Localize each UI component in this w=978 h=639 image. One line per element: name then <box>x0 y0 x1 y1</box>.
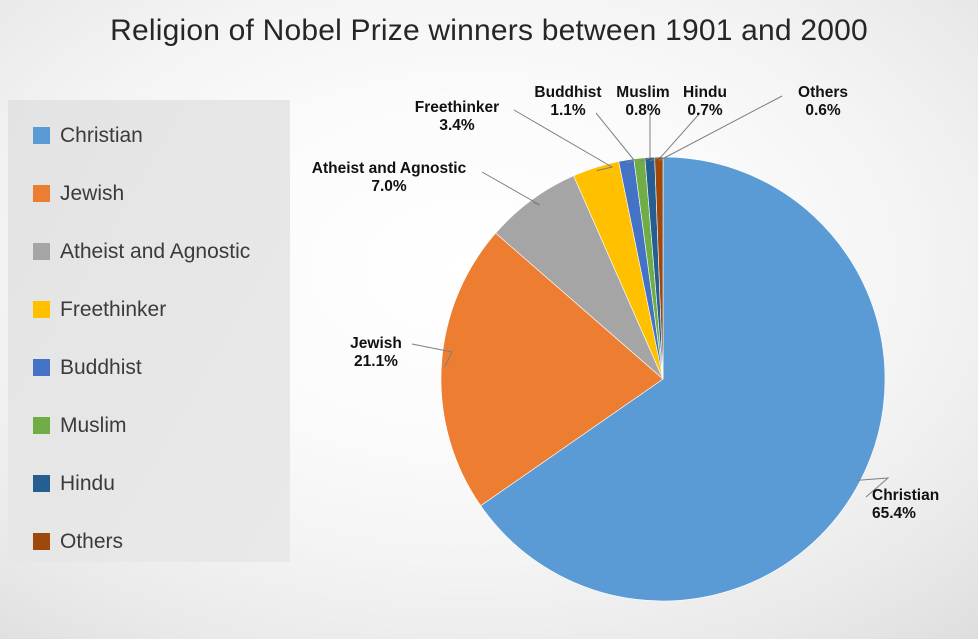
data-label-buddhist-name: Buddhist <box>524 84 612 102</box>
data-label-christian: Christian 65.4% <box>872 487 939 524</box>
pie-chart-figure: Religion of Nobel Prize winners between … <box>0 0 978 639</box>
legend-item-freethinker[interactable]: Freethinker <box>8 280 290 338</box>
legend-swatch-icon <box>33 417 50 434</box>
data-label-others-name: Others <box>780 84 866 102</box>
data-label-hindu: Hindu 0.7% <box>668 84 742 121</box>
legend-swatch-icon <box>33 533 50 550</box>
data-label-christian-value: 65.4% <box>872 505 939 523</box>
data-label-christian-name: Christian <box>872 487 939 505</box>
legend-item-label: Freethinker <box>60 299 166 320</box>
chart-legend: ChristianJewishAtheist and AgnosticFreet… <box>8 100 290 562</box>
data-label-atheist-and-agnostic: Atheist and Agnostic 7.0% <box>299 160 479 197</box>
legend-item-label: Atheist and Agnostic <box>60 241 250 262</box>
data-label-jewish-name: Jewish <box>340 335 412 353</box>
data-label-freethinker-value: 3.4% <box>404 117 510 135</box>
legend-item-muslim[interactable]: Muslim <box>8 396 290 454</box>
leader-line-atheist-and-agnostic <box>482 172 540 205</box>
legend-item-label: Buddhist <box>60 357 142 378</box>
data-label-others-value: 0.6% <box>780 102 866 120</box>
legend-item-label: Muslim <box>60 415 127 436</box>
data-label-atheist-value: 7.0% <box>299 178 479 196</box>
legend-item-hindu[interactable]: Hindu <box>8 454 290 512</box>
data-label-buddhist-value: 1.1% <box>524 102 612 120</box>
legend-item-jewish[interactable]: Jewish <box>8 164 290 222</box>
data-label-jewish: Jewish 21.1% <box>340 335 412 372</box>
data-label-buddhist: Buddhist 1.1% <box>524 84 612 121</box>
data-label-freethinker-name: Freethinker <box>404 99 510 117</box>
data-label-others: Others 0.6% <box>780 84 866 121</box>
data-label-jewish-value: 21.1% <box>340 353 412 371</box>
legend-item-others[interactable]: Others <box>8 512 290 570</box>
legend-swatch-icon <box>33 185 50 202</box>
legend-item-christian[interactable]: Christian <box>8 106 290 164</box>
legend-item-atheist-and-agnostic[interactable]: Atheist and Agnostic <box>8 222 290 280</box>
legend-item-label: Hindu <box>60 473 115 494</box>
legend-swatch-icon <box>33 301 50 318</box>
legend-swatch-icon <box>33 359 50 376</box>
legend-item-label: Others <box>60 531 123 552</box>
legend-item-label: Christian <box>60 125 143 146</box>
legend-swatch-icon <box>33 127 50 144</box>
pie-slice-group <box>441 157 885 601</box>
data-label-atheist-name: Atheist and Agnostic <box>299 160 479 178</box>
data-label-hindu-value: 0.7% <box>668 102 742 120</box>
legend-swatch-icon <box>33 475 50 492</box>
legend-item-buddhist[interactable]: Buddhist <box>8 338 290 396</box>
data-label-freethinker: Freethinker 3.4% <box>404 99 510 136</box>
legend-item-label: Jewish <box>60 183 124 204</box>
data-label-hindu-name: Hindu <box>668 84 742 102</box>
legend-swatch-icon <box>33 243 50 260</box>
